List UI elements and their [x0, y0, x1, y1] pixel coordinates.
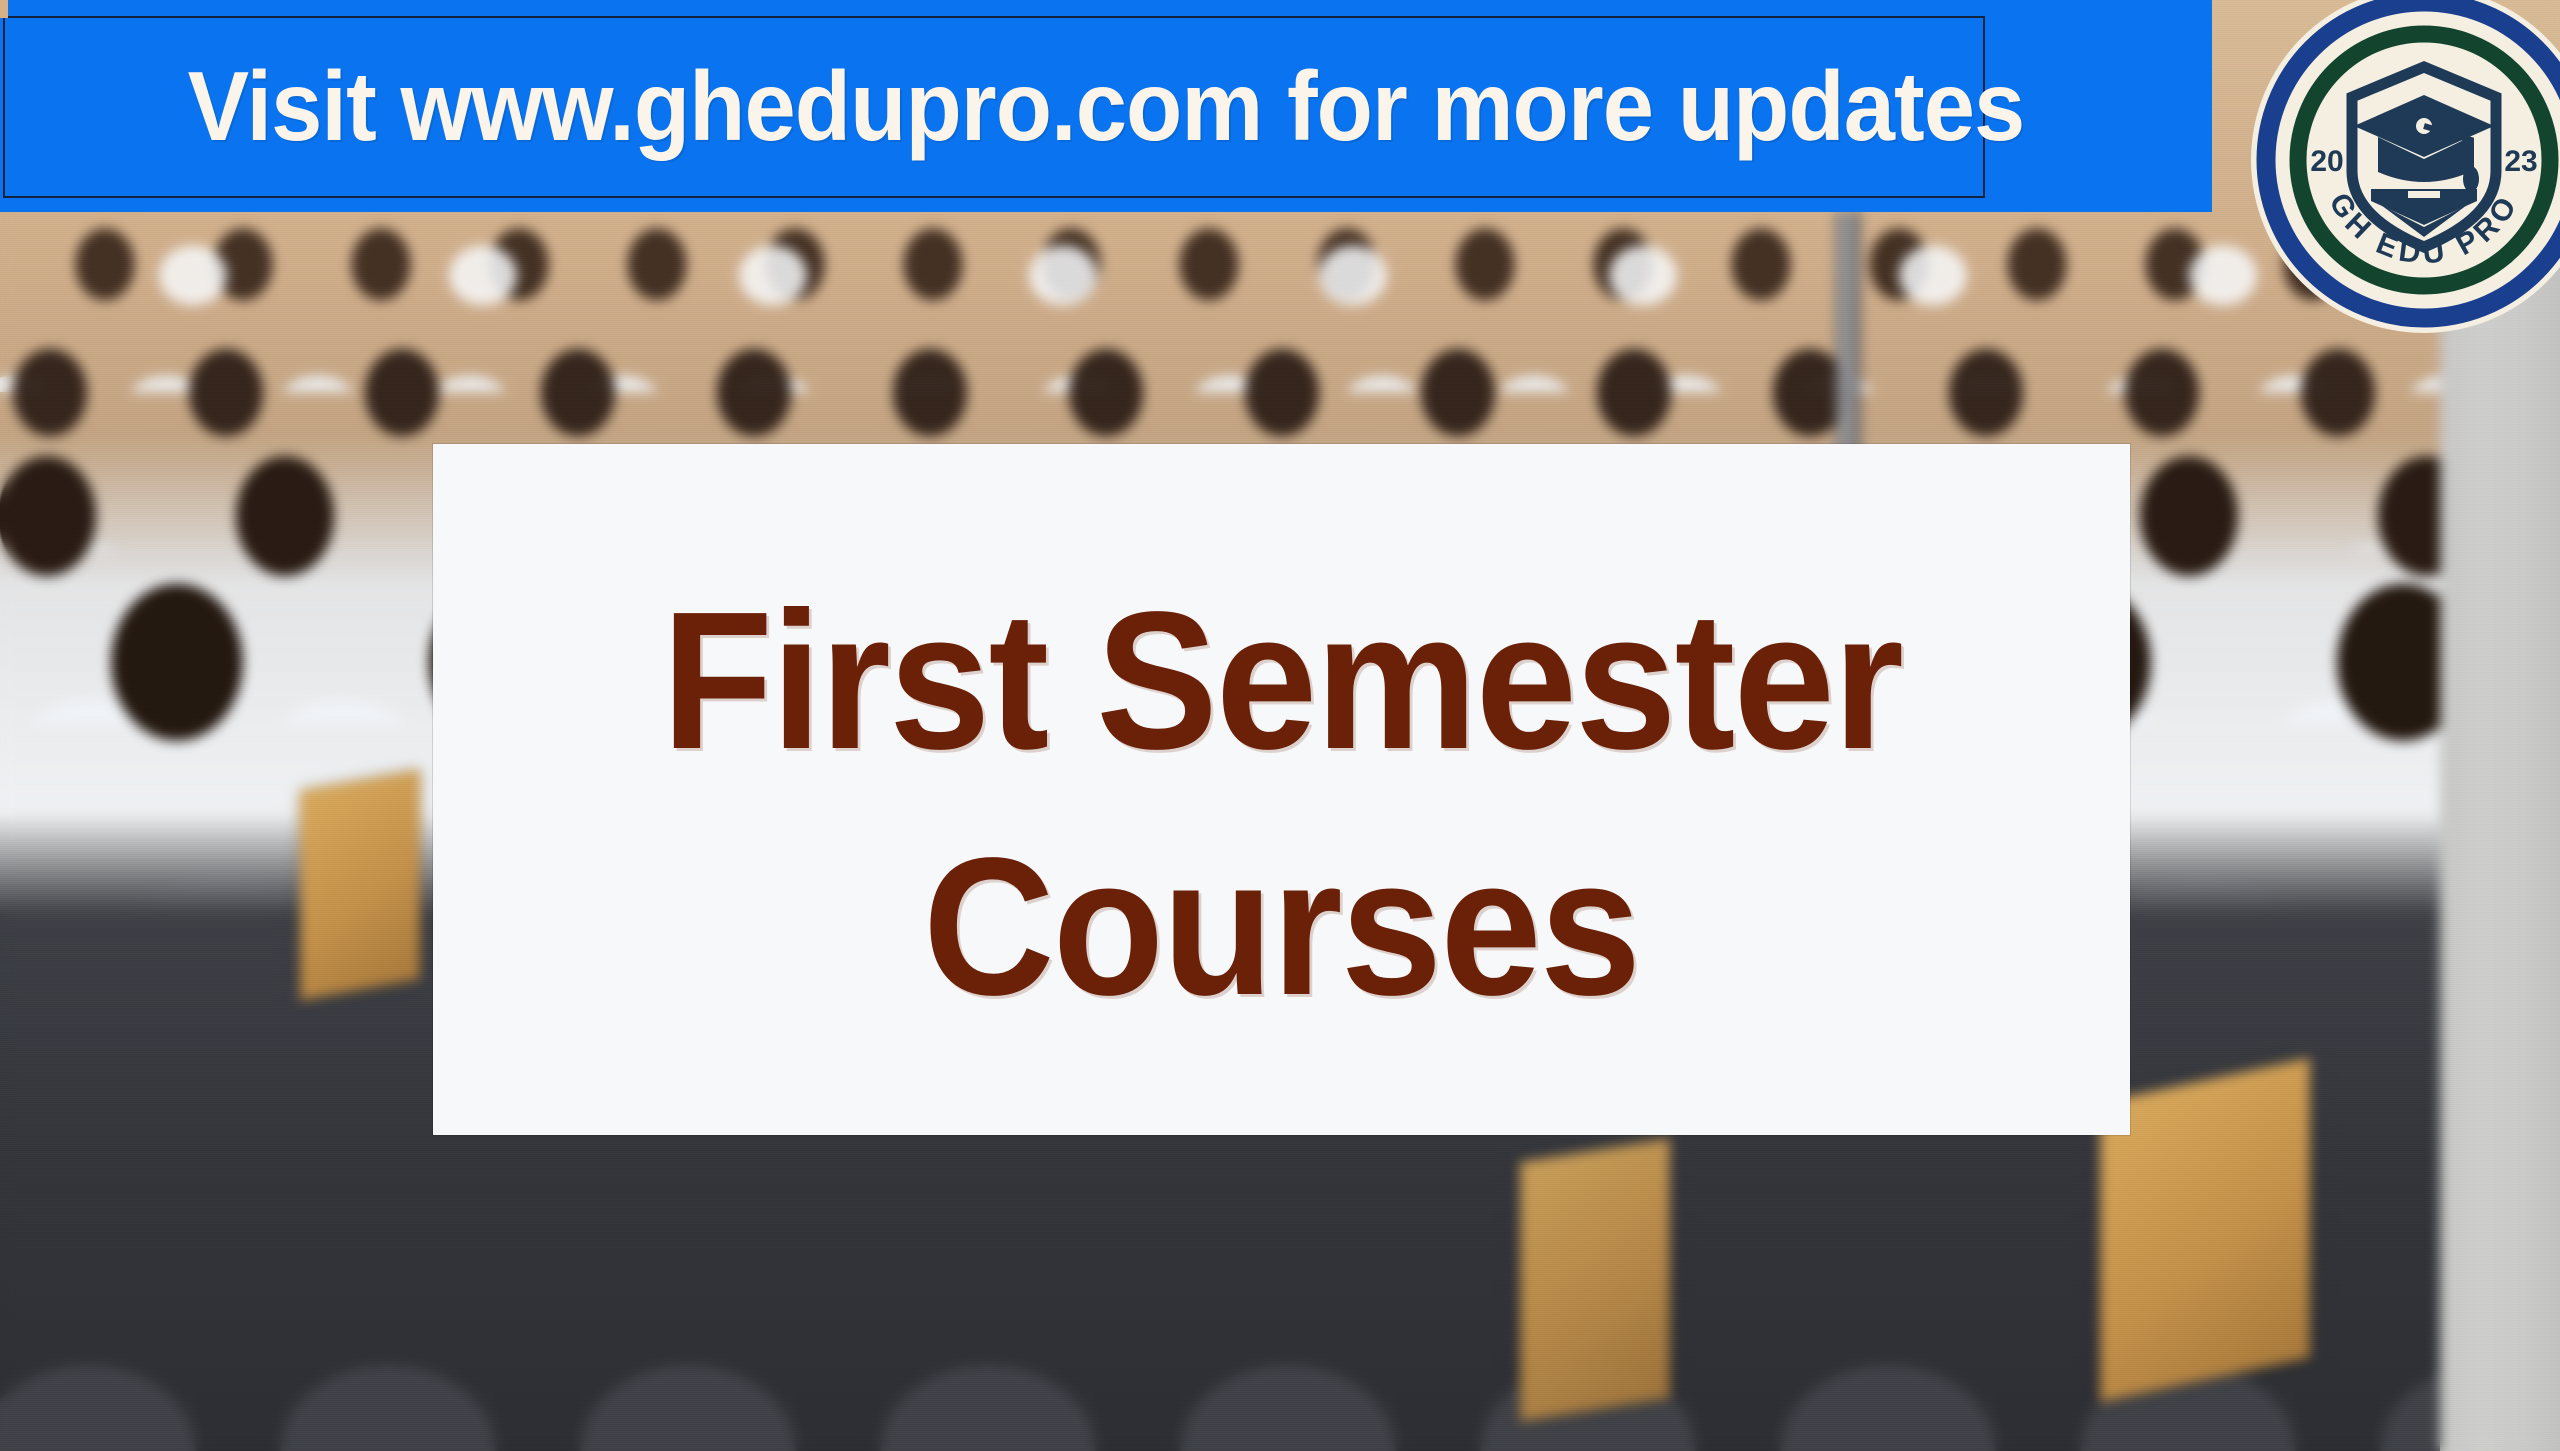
- title-line-2: Courses: [923, 827, 1639, 1027]
- logo-year-left: 20: [2310, 145, 2343, 178]
- title-card: First Semester Courses: [433, 444, 2130, 1135]
- logo-badge-icon: 20 23 GH EDU PRO: [2249, 0, 2560, 335]
- poster-canvas: Visit www.ghedupro.com for more updates: [0, 0, 2560, 1451]
- banner-text: Visit www.ghedupro.com for more updates: [66, 0, 2145, 212]
- gh-edu-pro-logo: 20 23 GH EDU PRO: [2249, 0, 2560, 335]
- corner-sliver: [0, 0, 8, 18]
- title-line-1: First Semester: [661, 581, 1901, 781]
- top-banner: Visit www.ghedupro.com for more updates: [0, 0, 2212, 212]
- logo-year-right: 23: [2504, 145, 2537, 178]
